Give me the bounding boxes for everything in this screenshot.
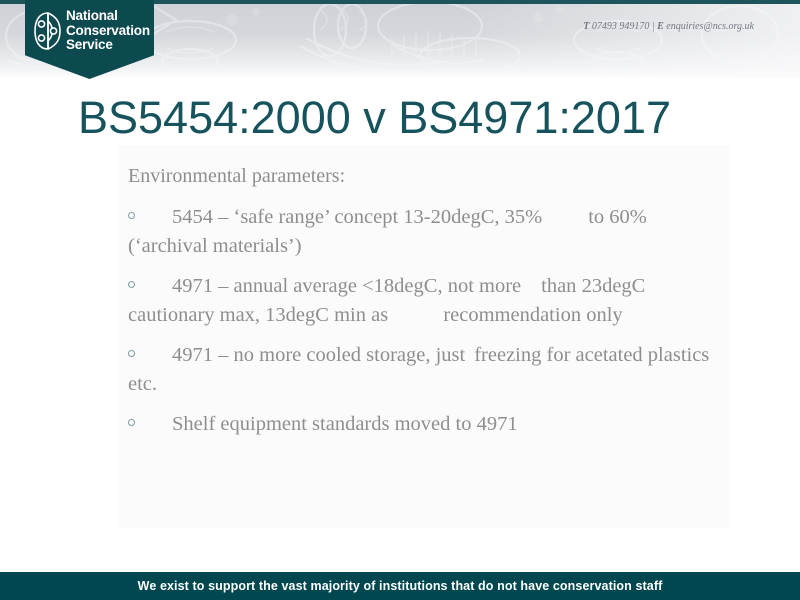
footer-bar: We exist to support the vast majority of…	[0, 572, 800, 600]
logo-line-3: Service	[66, 38, 150, 53]
contact-details: T 07493 949170 | E enquiries@ncs.org.uk	[583, 21, 754, 32]
bullet-circle-icon	[128, 281, 135, 288]
logo-banner[interactable]: National Conservation Service	[25, 0, 154, 79]
list-item-line-1-tail: freezing for	[474, 344, 570, 366]
list-item: 4971 – no more cooled storage, justfreez…	[118, 341, 730, 399]
page-title: BS5454:2000 v BS4971:2017	[78, 92, 778, 144]
list-item-line-1: 4971 – annual average <18degC, not more	[128, 275, 521, 297]
contact-separator: |	[652, 21, 655, 32]
leaf-mark-icon	[33, 11, 63, 51]
list-item-line-1-tail: to	[588, 206, 604, 228]
list-item-line-3: recommendation only	[393, 301, 622, 330]
bullet-circle-icon	[128, 350, 135, 357]
list-item-line-1: 4971 – no more cooled storage, just	[128, 344, 465, 366]
list-item-line-1-tail: than	[541, 275, 576, 297]
list-item-line-1: Shelf equipment standards moved to 4971	[128, 413, 518, 435]
slide: National Conservation Service T 07493 94…	[0, 0, 800, 600]
list-item-text: 4971 – annual average <18degC, not moret…	[118, 272, 730, 330]
content-panel: Environmental parameters: 5454 – ‘safe r…	[118, 145, 730, 528]
phone-number[interactable]: 07493 949170	[592, 21, 650, 32]
bullet-circle-icon	[128, 212, 135, 219]
logo-wordmark: National Conservation Service	[66, 9, 150, 53]
content-intro: Environmental parameters:	[128, 163, 345, 189]
email-label: E	[657, 21, 664, 32]
list-item: 4971 – annual average <18degC, not moret…	[118, 272, 730, 330]
phone-label: T	[583, 21, 589, 32]
bullet-list: 5454 – ‘safe range’ concept 13-20degC, 3…	[118, 203, 730, 450]
header-right-wash	[460, 0, 800, 78]
logo-line-1: National	[66, 9, 150, 24]
list-item-text: 4971 – no more cooled storage, justfreez…	[118, 341, 730, 399]
logo-line-2: Conservation	[66, 24, 150, 39]
email-address[interactable]: enquiries@ncs.org.uk	[666, 21, 754, 32]
list-item-text: 5454 – ‘safe range’ concept 13-20degC, 3…	[118, 203, 730, 261]
list-item-line-1: 5454 – ‘safe range’ concept 13-20degC, 3…	[128, 206, 542, 228]
list-item: Shelf equipment standards moved to 4971	[118, 410, 730, 439]
list-item: 5454 – ‘safe range’ concept 13-20degC, 3…	[118, 203, 730, 261]
bullet-circle-icon	[128, 419, 135, 426]
list-item-text: Shelf equipment standards moved to 4971	[118, 410, 730, 439]
footer-tagline: We exist to support the vast majority of…	[0, 572, 800, 600]
